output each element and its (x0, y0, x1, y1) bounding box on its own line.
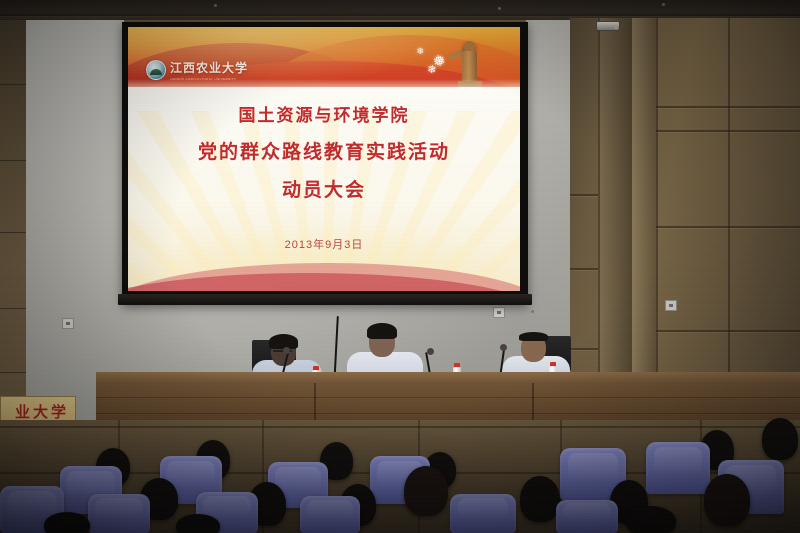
wall-outlet (62, 318, 74, 329)
university-name-cn: 江西农业大学 (170, 59, 248, 76)
slide-title-line3: 动员大会 (128, 175, 520, 202)
audience-head (44, 512, 90, 533)
presentation-slide: ❄ ❅ ❄ 江西农业大学 JIANGXI AGRICULTURAL UNIVER… (128, 27, 520, 291)
audience-head (404, 466, 448, 516)
audience-seat (646, 442, 710, 494)
audience-head (520, 476, 560, 522)
audience-head (176, 514, 220, 533)
slide-body: 国土资源与环境学院 党的群众路线教育实践活动 动员大会 2013年9月3日 (128, 87, 520, 291)
audience-head (626, 506, 676, 533)
auditorium-photo: ❄ ❅ ❄ 江西农业大学 JIANGXI AGRICULTURAL UNIVER… (0, 0, 800, 533)
screen-bottom-bar (118, 294, 532, 305)
slide-title-line2: 党的群众路线教育实践活动 (128, 137, 520, 164)
wall-outlet (665, 300, 677, 311)
audience-seat (450, 494, 516, 533)
ceiling-speck (214, 4, 217, 7)
slide-banner: ❄ ❅ ❄ 江西农业大学 JIANGXI AGRICULTURAL UNIVER… (128, 27, 520, 93)
university-seal-icon (146, 60, 166, 80)
ceiling-speck (662, 3, 665, 6)
wall-outlet (493, 307, 505, 318)
audience-head (704, 474, 750, 526)
dove-icon: ❄ (416, 47, 424, 56)
slide-date: 2013年9月3日 (128, 236, 520, 252)
dove-icon: ❄ (426, 64, 437, 76)
audience-seat (300, 496, 360, 533)
audience-seat (556, 500, 618, 533)
wall-speaker-device (596, 21, 620, 31)
left-wall-panel (0, 20, 28, 420)
right-wall-panels (570, 18, 800, 430)
ceiling-speck (498, 7, 501, 10)
audience-head (762, 418, 798, 460)
slide-title-line1: 国土资源与环境学院 (128, 101, 520, 126)
audience-seat (88, 494, 150, 533)
wall-sign-text: 业大学 (15, 401, 75, 422)
